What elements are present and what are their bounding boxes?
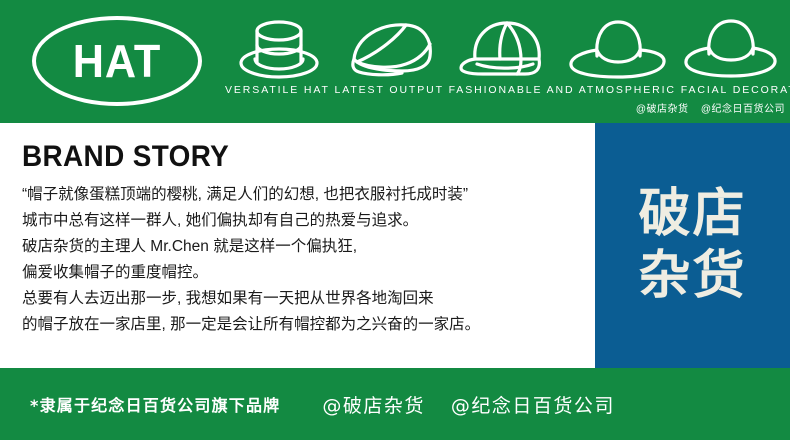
brand-mark-chinese: 破店 杂货 <box>595 123 790 368</box>
hat-logo: HAT <box>32 16 202 106</box>
cowboy-hat-icon <box>564 12 672 82</box>
header-banner: HAT <box>0 0 790 123</box>
brand-mark-line-1: 破店 <box>638 188 746 241</box>
story-line: 破店杂货的主理人 Mr.Chen 就是这样一个偏执狂, <box>22 234 592 260</box>
brand-mark-line-2: 杂货 <box>638 250 746 303</box>
logo-text: HAT <box>37 16 197 106</box>
footer-handle-2: @纪念日百货公司 <box>451 391 615 418</box>
page-title: BRAND STORY <box>22 140 552 174</box>
baseball-cap-icon <box>451 12 559 82</box>
flat-cap-icon <box>338 12 446 82</box>
brand-mark-panel: 破店 杂货 <box>595 123 790 368</box>
story-line: “帽子就像蛋糕顶端的樱桃, 满足人们的幻想, 也把衣服衬托成时装” <box>22 182 592 208</box>
story-line: 城市中总有这样一群人, 她们偏执却有自己的热爱与追求。 <box>22 208 592 234</box>
story-line: 偏爱收集帽子的重度帽控。 <box>22 260 592 286</box>
bowler-hat-icon <box>677 12 785 82</box>
brand-story-block: BRAND STORY “帽子就像蛋糕顶端的樱桃, 满足人们的幻想, 也把衣服衬… <box>22 140 592 338</box>
hat-icon-row <box>225 12 785 82</box>
header-handles: @破店杂货 @纪念日百货公司 <box>627 100 785 115</box>
footer-banner: *隶属于纪念日百货公司旗下品牌 @破店杂货 @纪念日百货公司 <box>0 368 790 440</box>
header-tagline: VERSATILE HAT LATEST OUTPUT FASHIONABLE … <box>225 84 785 96</box>
top-hat-icon <box>225 12 333 82</box>
story-line: 的帽子放在一家店里, 那一定是会让所有帽控都为之兴奋的一家店。 <box>22 312 592 338</box>
header-handle-2: @纪念日百货公司 <box>701 104 785 115</box>
poster-root: HAT <box>0 0 790 440</box>
story-line: 总要有人去迈出那一步, 我想如果有一天把从世界各地淘回来 <box>22 286 592 312</box>
footer-note: *隶属于纪念日百货公司旗下品牌 <box>30 392 280 416</box>
footer-handle-1: @破店杂货 <box>322 391 425 418</box>
header-handle-1: @破店杂货 <box>636 104 689 115</box>
